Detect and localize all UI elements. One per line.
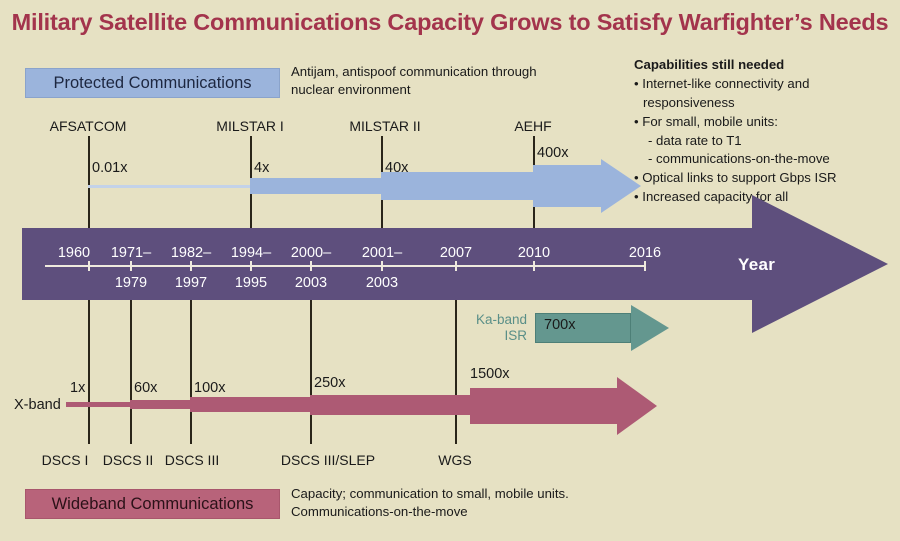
year-tick-label: 2001–: [362, 245, 402, 261]
wideband-flow-segment-wgs: [470, 388, 617, 424]
year-tick-label: 1960: [58, 245, 90, 261]
multiplier-aehf: 400x: [537, 145, 568, 161]
infographic-canvas: Military Satellite Communications Capaci…: [0, 0, 900, 541]
year-tick-label: 1995: [235, 275, 267, 291]
protected-flow-segment-afsatcom: [88, 185, 250, 188]
timeline-tick: [455, 261, 457, 271]
capabilities-title: Capabilities still needed: [634, 56, 896, 75]
wideband-note-line1: Capacity; communication to small, mobile…: [291, 485, 569, 503]
timeline-tick: [310, 261, 312, 271]
kaband-label-line2: ISR: [455, 328, 527, 344]
kaband-isr-label: Ka-band ISR: [455, 312, 527, 345]
year-tick-label: 1994–: [231, 245, 271, 261]
wideband-note-line2: Communications-on-the-move: [291, 503, 569, 521]
capability-subitem: - data rate to T1: [634, 132, 896, 151]
capability-item: • Internet-like connectivity and respons…: [634, 75, 896, 113]
multiplier-wgs: 1500x: [470, 366, 510, 382]
satellite-label-afsatcom: AFSATCOM: [50, 118, 127, 134]
wideband-flow-segment-dscs-1: [66, 402, 130, 407]
wideband-flow-segment-dscs-2: [130, 400, 190, 409]
capabilities-list: Capabilities still needed • Internet-lik…: [634, 56, 896, 207]
multiplier-afsatcom: 0.01x: [92, 160, 127, 176]
year-tick-label: 1997: [175, 275, 207, 291]
connector-dscs-2: [130, 300, 132, 444]
timeline-tick: [381, 261, 383, 271]
year-tick-label: 2003: [295, 275, 327, 291]
wideband-flow-segment-dscs-3: [190, 397, 310, 412]
year-axis-label: Year: [738, 255, 775, 275]
year-tick-label: 1971–: [111, 245, 151, 261]
multiplier-kaband: 700x: [544, 317, 575, 333]
multiplier-dscs-3: 100x: [194, 380, 225, 396]
timeline-tick: [644, 261, 646, 271]
multiplier-dscs-3-slep: 250x: [314, 375, 345, 391]
protected-communications-banner: Protected Communications: [25, 68, 280, 98]
year-tick-label: 2003: [366, 275, 398, 291]
kaband-flow-arrowhead: [631, 305, 669, 351]
capability-item: • Optical links to support Gbps ISR: [634, 169, 896, 188]
capabilities-items: • Internet-like connectivity and respons…: [634, 75, 896, 207]
wideband-flow-segment-dscs-3-slep: [310, 395, 470, 415]
year-tick-label: 2000–: [291, 245, 331, 261]
multiplier-dscs-2: 60x: [134, 380, 157, 396]
satellite-label-wgs: WGS: [438, 452, 471, 468]
page-title: Military Satellite Communications Capaci…: [0, 9, 900, 36]
year-tick-label: 1982–: [171, 245, 211, 261]
wideband-flow-arrowhead: [617, 377, 657, 435]
protected-flow-segment-milstar-2: [381, 172, 533, 200]
connector-wgs: [455, 300, 457, 444]
satellite-label-dscs-1: DSCS I: [42, 452, 89, 468]
capability-subitem: - communications-on-the-move: [634, 150, 896, 169]
satellite-label-dscs-3-slep: DSCS III/SLEP: [281, 452, 375, 468]
timeline-tick: [190, 261, 192, 271]
kaband-label-line1: Ka-band: [455, 312, 527, 328]
connector-dscs-1: [88, 300, 90, 444]
timeline-tick: [130, 261, 132, 271]
timeline-tick: [533, 261, 535, 271]
protected-flow-segment-milstar-1: [250, 178, 381, 194]
year-tick-label: 2016: [629, 245, 661, 261]
protected-flow-arrowhead: [601, 159, 641, 213]
satellite-label-dscs-3: DSCS III: [165, 452, 219, 468]
wideband-banner-label: Wideband Communications: [52, 495, 254, 514]
wideband-note: Capacity; communication to small, mobile…: [291, 485, 569, 521]
satellite-label-milstar-2: MILSTAR II: [349, 118, 420, 134]
multiplier-dscs-1: 1x: [70, 380, 85, 396]
capability-item: • For small, mobile units:: [634, 113, 896, 132]
protected-note-line1: Antijam, antispoof communication through: [291, 63, 537, 81]
protected-note-line2: nuclear environment: [291, 81, 537, 99]
timeline-tick: [88, 261, 90, 271]
year-tick-label: 2007: [440, 245, 472, 261]
protected-flow-segment-aehf: [533, 165, 601, 207]
connector-dscs-3: [190, 300, 192, 444]
year-tick-label: 1979: [115, 275, 147, 291]
protected-banner-label: Protected Communications: [53, 74, 251, 93]
protected-note: Antijam, antispoof communication through…: [291, 63, 537, 99]
connector-dscs-3-slep: [310, 300, 312, 444]
connector-afsatcom: [88, 136, 90, 228]
satellite-label-milstar-1: MILSTAR I: [216, 118, 283, 134]
year-tick-label: 2010: [518, 245, 550, 261]
satellite-label-dscs-2: DSCS II: [103, 452, 154, 468]
satellite-label-aehf: AEHF: [514, 118, 551, 134]
wideband-communications-banner: Wideband Communications: [25, 489, 280, 519]
timeline-axis-line: [45, 265, 645, 267]
xband-label: X-band: [14, 397, 61, 413]
multiplier-milstar-1: 4x: [254, 160, 269, 176]
timeline-tick: [250, 261, 252, 271]
